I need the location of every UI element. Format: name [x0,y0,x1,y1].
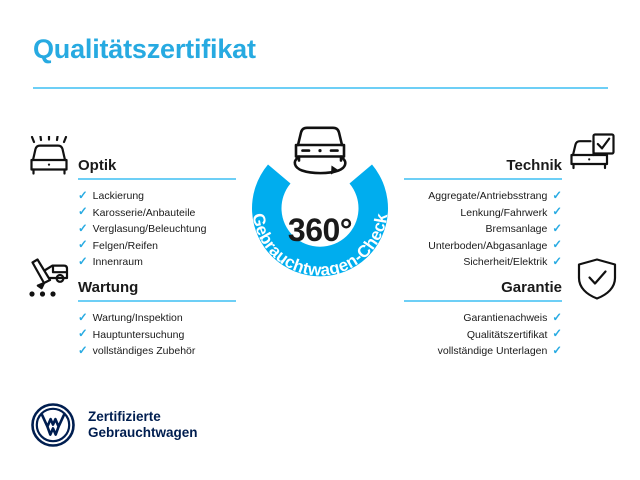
list-item: Lenkung/Fahrwerk ✓ [404,205,562,222]
car-service-pen-icon [23,258,69,300]
car-shine-icon [26,136,72,178]
car-rotate-icon [285,116,355,178]
gebrauchtwagen-check-badge: Gebrauchtwagen-Check 360° [228,116,412,300]
checklist-technik: Aggregate/Antriebsstrang ✓ Lenkung/Fahrw… [404,188,562,271]
section-header: Wartung [78,270,236,296]
check-icon: ✓ [552,207,562,219]
section-title: Wartung [78,280,138,296]
section-divider [404,300,562,302]
list-item: Unterboden/Abgasanlage ✓ [404,238,562,255]
list-item: ✓ vollständiges Zubehör [78,343,236,360]
list-item: ✓ Karosserie/Anbauteile [78,205,236,222]
check-icon: ✓ [78,207,88,219]
list-item: Bremsanlage ✓ [404,221,562,238]
shield-check-icon [574,258,620,300]
list-item-label: Hauptuntersuchung [93,327,185,344]
list-item-label: Verglasung/Beleuchtung [93,221,207,238]
list-item-label: vollständiges Zubehör [93,343,196,360]
check-icon: ✓ [78,191,88,203]
check-icon: ✓ [78,313,88,325]
list-item: Sicherheit/Elektrik ✓ [404,254,562,271]
check-icon: ✓ [552,257,562,269]
section-header: Garantie [404,270,562,296]
list-item-label: vollständige Unterlagen [438,343,548,360]
list-item: vollständige Unterlagen ✓ [404,343,562,360]
section-garantie: Garantie Garantienachweis ✓ Qualitätszer… [404,270,562,296]
list-item: ✓ Hauptuntersuchung [78,327,236,344]
section-divider [78,178,236,180]
check-icon: ✓ [552,191,562,203]
check-icon: ✓ [552,224,562,236]
checklist-garantie: Garantienachweis ✓ Qualitätszertifikat ✓… [404,310,562,360]
check-icon: ✓ [78,257,88,269]
footer-text: Zertifizierte Gebrauchtwagen [88,409,198,441]
list-item: Qualitätszertifikat ✓ [404,327,562,344]
list-item: Garantienachweis ✓ [404,310,562,327]
list-item-label: Innenraum [93,254,143,271]
section-title: Garantie [501,280,562,296]
section-technik: Technik Aggregate/Antriebsstrang ✓ Lenku… [404,148,562,174]
section-wartung: Wartung ✓ Wartung/Inspektion ✓ Hauptunte… [78,270,236,296]
section-title: Optik [78,158,116,174]
list-item-label: Wartung/Inspektion [93,310,183,327]
list-item-label: Aggregate/Antriebsstrang [428,188,547,205]
checklist-optik: ✓ Lackierung ✓ Karosserie/Anbauteile ✓ V… [78,188,236,271]
footer-line-1: Zertifizierte [88,409,198,425]
list-item-label: Bremsanlage [485,221,547,238]
list-item-label: Sicherheit/Elektrik [463,254,547,271]
list-item-label: Qualitätszertifikat [467,327,548,344]
check-icon: ✓ [78,240,88,252]
list-item-label: Felgen/Reifen [93,238,158,255]
check-icon: ✓ [78,329,88,341]
section-divider [404,178,562,180]
list-item-label: Karosserie/Anbauteile [93,205,196,222]
footer-line-2: Gebrauchtwagen [88,425,198,441]
list-item-label: Lenkung/Fahrwerk [460,205,547,222]
check-icon: ✓ [552,329,562,341]
list-item: ✓ Innenraum [78,254,236,271]
title-divider [33,87,608,89]
section-title: Technik [506,158,562,174]
badge-center-label: 360° [228,212,412,249]
list-item: ✓ Felgen/Reifen [78,238,236,255]
list-item: ✓ Lackierung [78,188,236,205]
list-item: ✓ Wartung/Inspektion [78,310,236,327]
check-icon: ✓ [78,346,88,358]
list-item-label: Garantienachweis [463,310,547,327]
car-checkbox-icon [569,133,615,175]
list-item: ✓ Verglasung/Beleuchtung [78,221,236,238]
section-header: Optik [78,148,236,174]
footer-brand: Zertifizierte Gebrauchtwagen [31,403,198,447]
check-icon: ✓ [552,346,562,358]
check-icon: ✓ [78,224,88,236]
section-divider [78,300,236,302]
section-optik: Optik ✓ Lackierung ✓ Karosserie/Anbautei… [78,148,236,174]
checklist-wartung: ✓ Wartung/Inspektion ✓ Hauptuntersuchung… [78,310,236,360]
check-icon: ✓ [552,313,562,325]
list-item-label: Unterboden/Abgasanlage [428,238,547,255]
list-item: Aggregate/Antriebsstrang ✓ [404,188,562,205]
check-icon: ✓ [552,240,562,252]
vw-logo-icon [31,403,75,447]
page-title: Qualitätszertifikat [33,34,256,65]
list-item-label: Lackierung [93,188,144,205]
section-header: Technik [404,148,562,174]
